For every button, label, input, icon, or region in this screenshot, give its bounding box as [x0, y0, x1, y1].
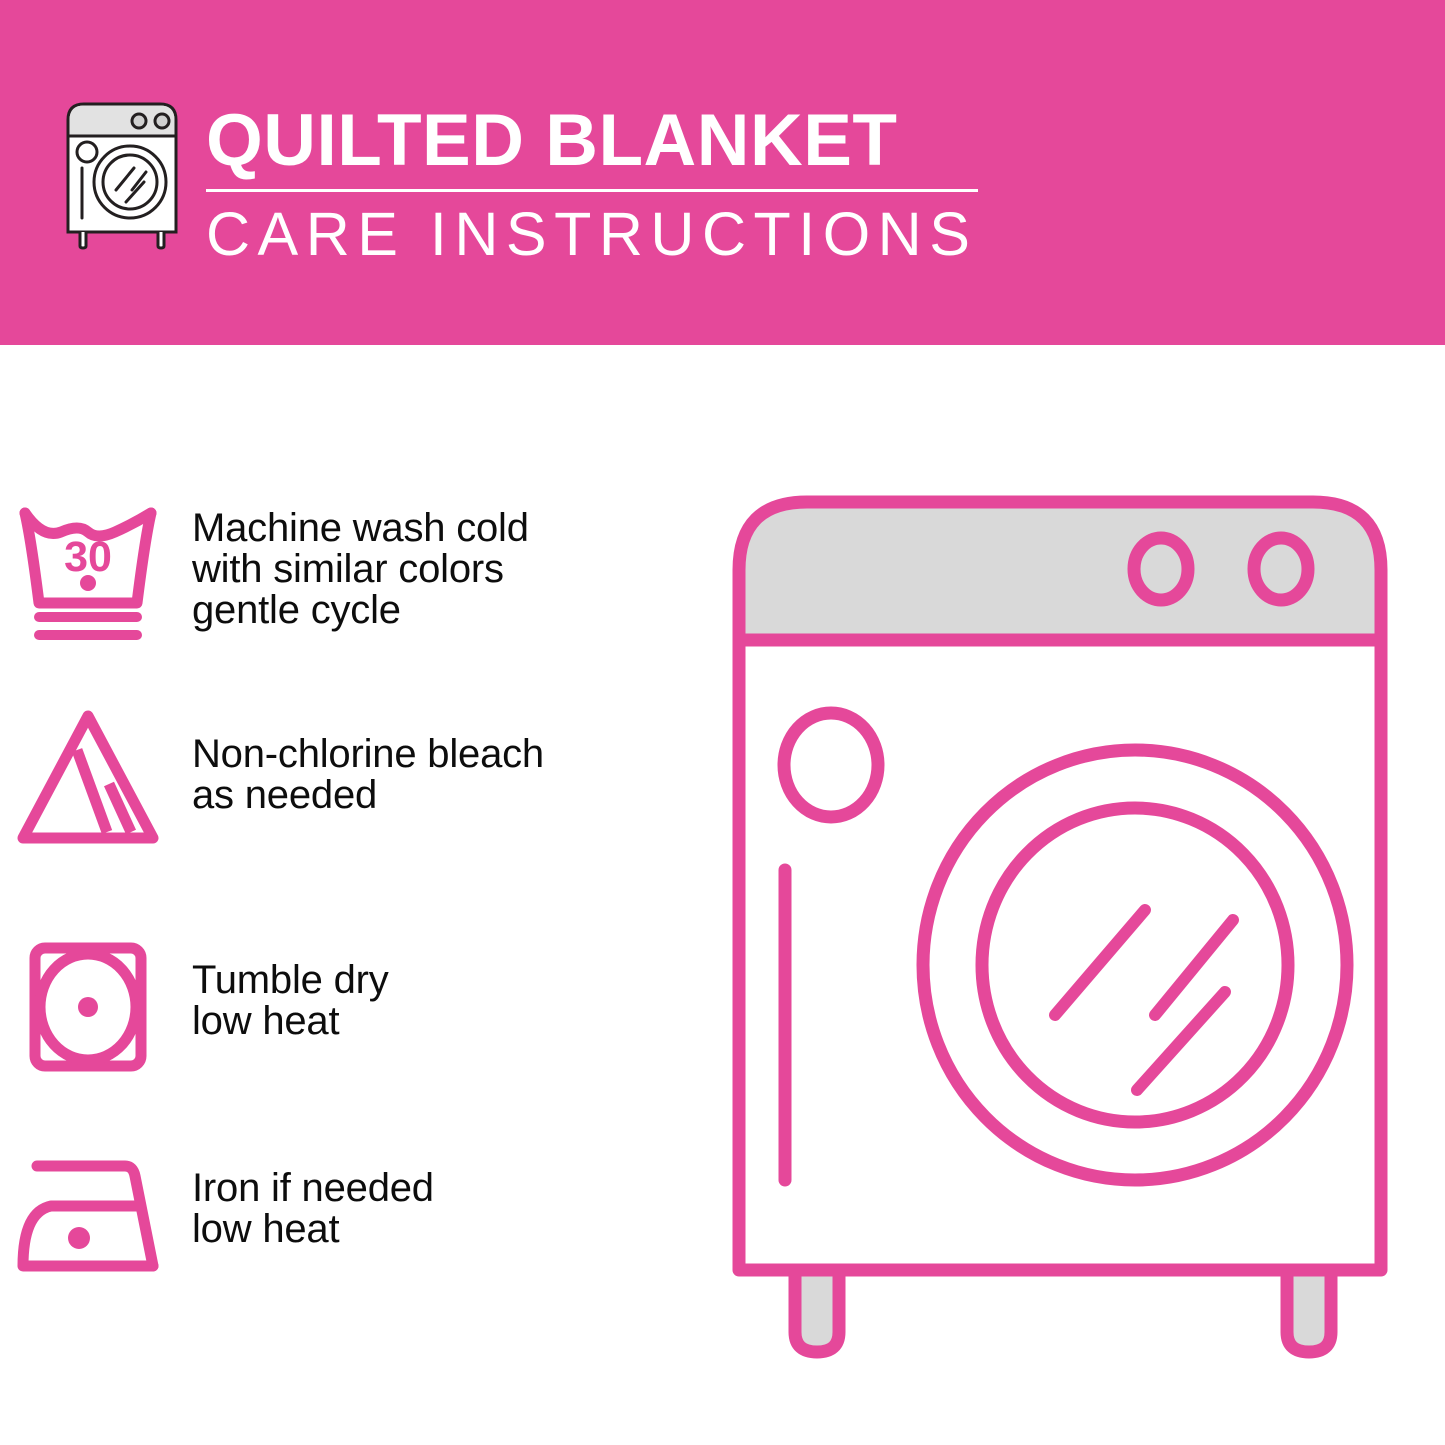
- label-line: Machine wash cold: [192, 508, 700, 549]
- wash-tub-30-icon: 30: [0, 497, 175, 649]
- tumble-dry-low-icon: [0, 930, 175, 1082]
- list-item: Non-chlorine bleach as needed: [0, 700, 700, 852]
- list-item-label: Non-chlorine bleach as needed: [175, 700, 700, 816]
- care-symbol-list: 30 Machine wash cold with similar colors…: [0, 345, 700, 1445]
- label-line: low heat: [192, 1001, 700, 1042]
- washing-machine-icon: [58, 98, 186, 250]
- label-line: gentle cycle: [192, 590, 700, 631]
- list-item: 30 Machine wash cold with similar colors…: [0, 497, 700, 649]
- title-divider: [206, 189, 978, 192]
- iron-low-heat-icon: [0, 1140, 175, 1292]
- label-line: as needed: [192, 775, 700, 816]
- list-item-label: Tumble dry low heat: [175, 930, 700, 1042]
- list-item-label: Machine wash cold with similar colors ge…: [175, 497, 700, 631]
- list-item: Tumble dry low heat: [0, 930, 700, 1082]
- page-subtitle: CARE INSTRUCTIONS: [206, 200, 996, 268]
- header-banner: QUILTED BLANKET CARE INSTRUCTIONS: [0, 0, 1445, 345]
- page-title: QUILTED BLANKET: [206, 100, 996, 182]
- label-line: with similar colors: [192, 549, 700, 590]
- list-item-label: Iron if needed low heat: [175, 1140, 700, 1250]
- washing-machine-large-icon: [725, 480, 1395, 1360]
- label-line: Non-chlorine bleach: [192, 734, 700, 775]
- label-line: low heat: [192, 1209, 700, 1250]
- list-item: Iron if needed low heat: [0, 1140, 700, 1292]
- label-line: Iron if needed: [192, 1168, 700, 1209]
- header-text-block: QUILTED BLANKET CARE INSTRUCTIONS: [206, 100, 996, 268]
- svg-text:30: 30: [64, 533, 112, 581]
- bleach-triangle-icon: [0, 700, 175, 852]
- label-line: Tumble dry: [192, 960, 700, 1001]
